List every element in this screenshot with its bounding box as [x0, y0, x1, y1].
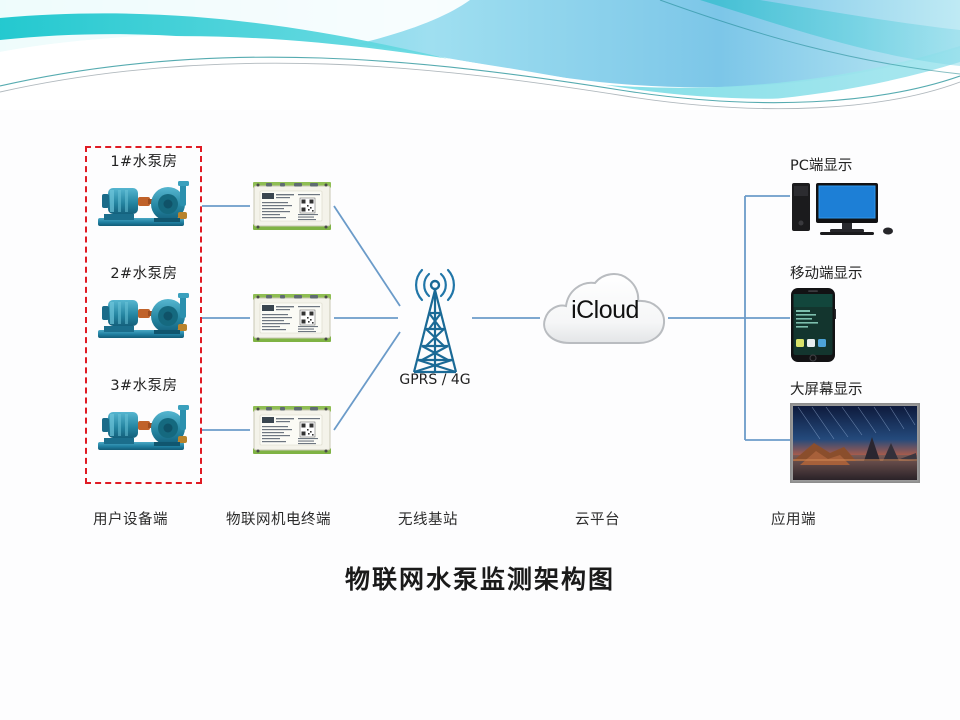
iot-terminal-2: [250, 290, 334, 346]
water-pump-icon: [92, 174, 196, 232]
iot-terminal-icon: [250, 178, 334, 234]
water-pump-icon: [92, 398, 196, 456]
cell-tower: [398, 260, 472, 378]
iot-terminal-3: [250, 402, 334, 458]
column-label-base-station: 无线基站: [398, 508, 458, 529]
iot-terminal-1: [250, 178, 334, 234]
pump-house-3: 3#水泵房: [92, 374, 196, 456]
architecture-diagram: 1#水泵房: [0, 110, 960, 550]
iot-terminal-icon: [250, 290, 334, 346]
water-pump-icon: [92, 286, 196, 344]
qr-code-icon: [300, 422, 315, 437]
app-pc-display-label: PC端显示: [790, 154, 900, 175]
pump-house-2: 2#水泵房: [92, 262, 196, 344]
pump-house-3-label: 3#水泵房: [92, 374, 196, 395]
pump-house-2-label: 2#水泵房: [92, 262, 196, 283]
pump-house-1-label: 1#水泵房: [92, 150, 196, 171]
column-label-iot-terminal: 物联网机电终端: [226, 508, 331, 529]
smartphone-icon: [790, 287, 836, 363]
app-pc-display: PC端显示: [790, 154, 900, 243]
app-large-screen-display: 大屏幕显示: [790, 378, 920, 487]
slide-canvas: 1#水泵房: [0, 0, 960, 720]
iot-terminal-icon: [250, 402, 334, 458]
pump-house-1: 1#水泵房: [92, 150, 196, 232]
column-label-application: 应用端: [771, 508, 816, 529]
tower-label: GPRS / 4G: [380, 372, 490, 388]
header-wave-decoration: [0, 0, 960, 110]
column-label-user-devices: 用户设备端: [93, 508, 168, 529]
app-mobile-display-label: 移动端显示: [790, 262, 863, 283]
column-label-cloud-platform: 云平台: [575, 508, 620, 529]
cell-tower-icon: [398, 260, 472, 378]
desktop-computer-icon: [790, 179, 900, 239]
qr-code-icon: [300, 198, 315, 213]
app-large-screen-display-label: 大屏幕显示: [790, 378, 920, 399]
app-mobile-display: 移动端显示: [790, 262, 863, 367]
large-screen-display-icon: [790, 403, 920, 483]
page-title: 物联网水泵监测架构图: [0, 560, 960, 596]
cloud-label: iCloud: [535, 296, 675, 325]
qr-code-icon: [300, 310, 315, 325]
